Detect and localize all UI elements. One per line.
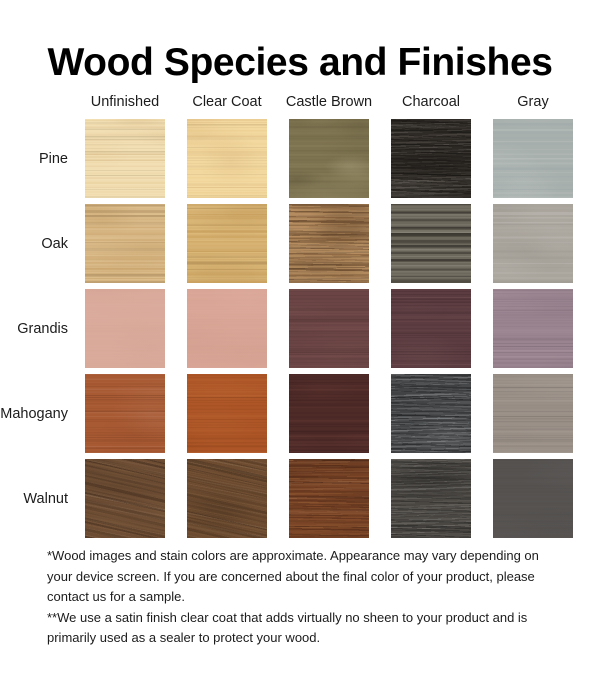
- cell-oak-castle-brown: [278, 204, 380, 283]
- swatch-pine-charcoal: [391, 119, 471, 198]
- swatch-walnut-clear-coat: [187, 459, 267, 538]
- footnote-approximate-colors: *Wood images and stain colors are approx…: [47, 546, 555, 608]
- cell-grandis-castle-brown: [278, 289, 380, 368]
- row-label-grandis: Grandis: [0, 321, 74, 337]
- cell-pine-gray: [482, 119, 584, 198]
- swatch-walnut-gray: [493, 459, 573, 538]
- row-label-pine: Pine: [0, 151, 74, 167]
- cell-mahogany-gray: [482, 374, 584, 453]
- wood-grain-texture: [493, 374, 573, 453]
- swatch-walnut-charcoal: [391, 459, 471, 538]
- cell-mahogany-unfinished: [74, 374, 176, 453]
- swatch-mahogany-unfinished: [85, 374, 165, 453]
- wood-grain-texture: [85, 374, 165, 453]
- swatch-grandis-charcoal: [391, 289, 471, 368]
- table-row: Mahogany: [0, 371, 600, 456]
- table-row: Grandis: [0, 286, 600, 371]
- swatch-grandis-gray: [493, 289, 573, 368]
- swatch-oak-clear-coat: [187, 204, 267, 283]
- footnotes: *Wood images and stain colors are approx…: [47, 546, 555, 649]
- cell-walnut-gray: [482, 459, 584, 538]
- wood-grain-texture: [289, 374, 369, 453]
- wood-grain-texture: [493, 119, 573, 198]
- column-header-charcoal: Charcoal: [380, 94, 482, 110]
- swatch-grandis-castle-brown: [289, 289, 369, 368]
- table-row: Walnut: [0, 456, 600, 541]
- cell-walnut-clear-coat: [176, 459, 278, 538]
- wood-grain-texture: [391, 374, 471, 453]
- wood-grain-texture: [493, 459, 573, 538]
- wood-grain-texture: [391, 459, 471, 538]
- swatch-grandis-clear-coat: [187, 289, 267, 368]
- wood-grain-texture: [391, 289, 471, 368]
- cell-grandis-gray: [482, 289, 584, 368]
- wood-grain-texture: [289, 459, 369, 538]
- cell-grandis-unfinished: [74, 289, 176, 368]
- swatch-mahogany-charcoal: [391, 374, 471, 453]
- swatch-pine-castle-brown: [289, 119, 369, 198]
- cell-mahogany-castle-brown: [278, 374, 380, 453]
- page-title: Wood Species and Finishes: [0, 40, 600, 86]
- cell-pine-clear-coat: [176, 119, 278, 198]
- cell-walnut-castle-brown: [278, 459, 380, 538]
- cell-walnut-unfinished: [74, 459, 176, 538]
- cell-mahogany-clear-coat: [176, 374, 278, 453]
- column-header-row: Unfinished Clear Coat Castle Brown Charc…: [0, 94, 600, 116]
- wood-finishes-chart: Wood Species and Finishes Unfinished Cle…: [0, 0, 600, 692]
- cell-pine-charcoal: [380, 119, 482, 198]
- swatch-mahogany-clear-coat: [187, 374, 267, 453]
- cell-pine-castle-brown: [278, 119, 380, 198]
- wood-grain-texture: [289, 119, 369, 198]
- swatch-oak-unfinished: [85, 204, 165, 283]
- wood-grain-texture: [187, 289, 267, 368]
- column-header-clear-coat: Clear Coat: [176, 94, 278, 110]
- column-header-gray: Gray: [482, 94, 584, 110]
- row-label-walnut: Walnut: [0, 491, 74, 507]
- cell-oak-unfinished: [74, 204, 176, 283]
- swatch-pine-unfinished: [85, 119, 165, 198]
- wood-grain-texture: [187, 119, 267, 198]
- wood-grain-texture: [85, 204, 165, 283]
- cell-grandis-charcoal: [380, 289, 482, 368]
- wood-grain-texture: [289, 289, 369, 368]
- column-header-castle-brown: Castle Brown: [278, 94, 380, 110]
- cell-oak-clear-coat: [176, 204, 278, 283]
- wood-grain-texture: [289, 204, 369, 283]
- wood-grain-texture: [493, 204, 573, 283]
- table-row: Pine: [0, 116, 600, 201]
- swatch-oak-charcoal: [391, 204, 471, 283]
- swatch-oak-gray: [493, 204, 573, 283]
- cell-walnut-charcoal: [380, 459, 482, 538]
- wood-grain-texture: [85, 459, 165, 538]
- swatch-oak-castle-brown: [289, 204, 369, 283]
- wood-grain-texture: [187, 374, 267, 453]
- wood-grain-texture: [391, 204, 471, 283]
- swatch-grid: Unfinished Clear Coat Castle Brown Charc…: [0, 94, 600, 541]
- swatch-pine-clear-coat: [187, 119, 267, 198]
- table-row: Oak: [0, 201, 600, 286]
- swatch-grandis-unfinished: [85, 289, 165, 368]
- cell-mahogany-charcoal: [380, 374, 482, 453]
- swatch-pine-gray: [493, 119, 573, 198]
- swatch-walnut-unfinished: [85, 459, 165, 538]
- column-header-unfinished: Unfinished: [74, 94, 176, 110]
- swatch-walnut-castle-brown: [289, 459, 369, 538]
- cell-grandis-clear-coat: [176, 289, 278, 368]
- wood-grain-texture: [187, 204, 267, 283]
- wood-grain-texture: [187, 459, 267, 538]
- cell-pine-unfinished: [74, 119, 176, 198]
- swatch-mahogany-gray: [493, 374, 573, 453]
- row-label-mahogany: Mahogany: [0, 406, 74, 422]
- row-label-oak: Oak: [0, 236, 74, 252]
- wood-grain-texture: [85, 119, 165, 198]
- footnote-satin-clear-coat: **We use a satin finish clear coat that …: [47, 608, 555, 649]
- cell-oak-charcoal: [380, 204, 482, 283]
- wood-grain-texture: [85, 289, 165, 368]
- swatch-mahogany-castle-brown: [289, 374, 369, 453]
- wood-grain-texture: [391, 119, 471, 198]
- wood-grain-texture: [493, 289, 573, 368]
- cell-oak-gray: [482, 204, 584, 283]
